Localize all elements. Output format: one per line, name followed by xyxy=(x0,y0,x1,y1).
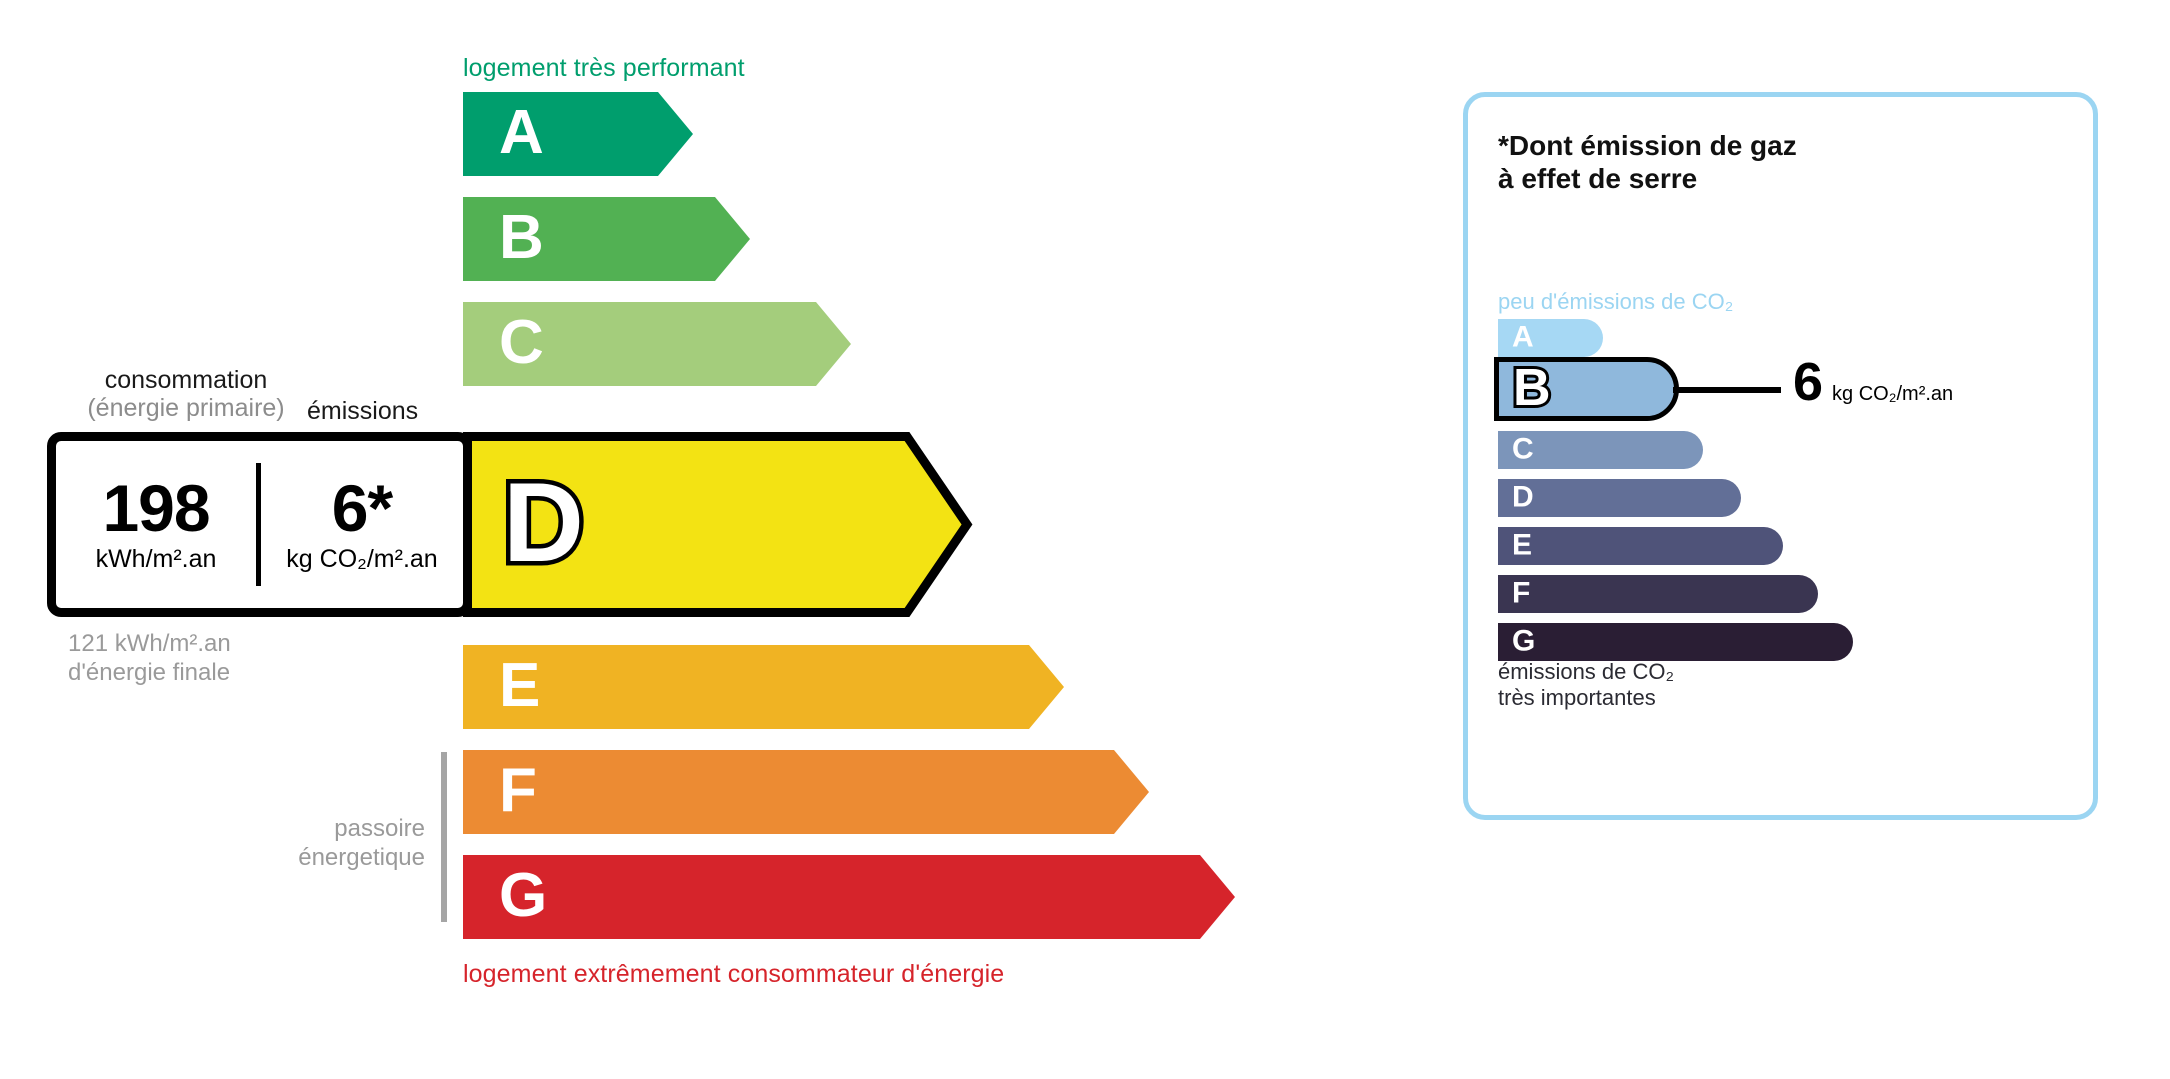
ghg-bar-f-letter: F xyxy=(1512,578,1530,608)
ghg-bar-d: D xyxy=(1498,479,1741,517)
energy-band-f-letter: F xyxy=(499,760,537,822)
ghg-value-group: 6 kg CO₂/m².an xyxy=(1793,355,1953,409)
ghg-bar-a: A xyxy=(1498,319,1603,357)
ghg-bar-f: F xyxy=(1498,575,1818,613)
consumption-label-line2: (énergie primaire) xyxy=(68,394,304,422)
ghg-value: 6 xyxy=(1793,355,1823,409)
primary-energy-cell: 198 kWh/m².an xyxy=(56,441,256,608)
energy-band-e-arrow xyxy=(463,645,1064,729)
energy-band-f: F xyxy=(463,750,1149,834)
energy-band-d-letter: D xyxy=(503,466,584,578)
emissions-cell: 6* kg CO₂/m².an xyxy=(261,441,463,608)
final-energy-note: 121 kWh/m².an d'énergie finale xyxy=(68,630,231,688)
primary-energy-value: 198 xyxy=(102,477,209,540)
ghg-bar-c-letter: C xyxy=(1512,434,1534,464)
energy-band-a: A xyxy=(463,92,693,176)
emissions-label: émissions xyxy=(307,397,418,426)
energy-band-g-arrow xyxy=(463,855,1235,939)
ghg-leader-line xyxy=(1673,387,1781,393)
greenhouse-gas-panel: *Dont émission de gaz à effet de serre p… xyxy=(1463,92,2098,820)
energy-band-b-letter: B xyxy=(499,207,544,269)
ghg-bottom-caption: émissions de CO₂ très importantes xyxy=(1498,659,1674,712)
passoire-label-line2: énergetique xyxy=(180,844,425,873)
emissions-value: 6* xyxy=(332,477,392,540)
energy-band-g-letter: G xyxy=(499,865,547,927)
ghg-bar-a-letter: A xyxy=(1512,322,1534,352)
energy-band-d-selected: D xyxy=(463,432,973,617)
energy-performance-chart: logement très performant A B C D E xyxy=(0,0,1320,1079)
energy-band-a-arrow xyxy=(463,92,693,176)
energy-band-f-arrow xyxy=(463,750,1149,834)
consumption-label: consommation (énergie primaire) xyxy=(68,366,304,422)
energy-band-c: C xyxy=(463,302,851,386)
passoire-bracket-line xyxy=(441,752,447,922)
energy-top-caption: logement très performant xyxy=(463,54,745,83)
energy-band-g: G xyxy=(463,855,1235,939)
ghg-unit: kg CO₂/m².an xyxy=(1832,383,1953,406)
energy-band-e-letter: E xyxy=(499,655,540,717)
ghg-panel-title: *Dont émission de gaz à effet de serre xyxy=(1498,129,1797,195)
energy-value-box: 198 kWh/m².an 6* kg CO₂/m².an xyxy=(47,432,472,617)
energy-band-e: E xyxy=(463,645,1064,729)
ghg-bar-g-letter: G xyxy=(1512,626,1535,656)
energy-band-b: B xyxy=(463,197,750,281)
ghg-bar-g: G xyxy=(1498,623,1853,661)
ghg-bar-b-selected: B xyxy=(1494,357,1679,421)
ghg-bar-e: E xyxy=(1498,527,1783,565)
energy-band-a-letter: A xyxy=(499,102,544,164)
ghg-bar-e-letter: E xyxy=(1512,530,1532,560)
ghg-top-caption: peu d'émissions de CO₂ xyxy=(1498,289,1733,315)
ghg-bar-d-letter: D xyxy=(1512,482,1534,512)
consumption-label-line1: consommation xyxy=(105,366,268,394)
ghg-bar-c: C xyxy=(1498,431,1703,469)
energy-bottom-caption: logement extrêmement consommateur d'éner… xyxy=(463,960,1004,989)
passoire-label: passoire énergetique xyxy=(180,815,425,873)
emissions-unit: kg CO₂/m².an xyxy=(286,547,437,572)
primary-energy-unit: kWh/m².an xyxy=(96,547,217,572)
final-energy-note-line1: 121 kWh/m².an xyxy=(68,630,231,659)
energy-band-c-letter: C xyxy=(499,312,544,374)
ghg-bar-b-letter: B xyxy=(1513,362,1551,414)
passoire-label-line1: passoire xyxy=(180,815,425,844)
final-energy-note-line2: d'énergie finale xyxy=(68,659,231,688)
